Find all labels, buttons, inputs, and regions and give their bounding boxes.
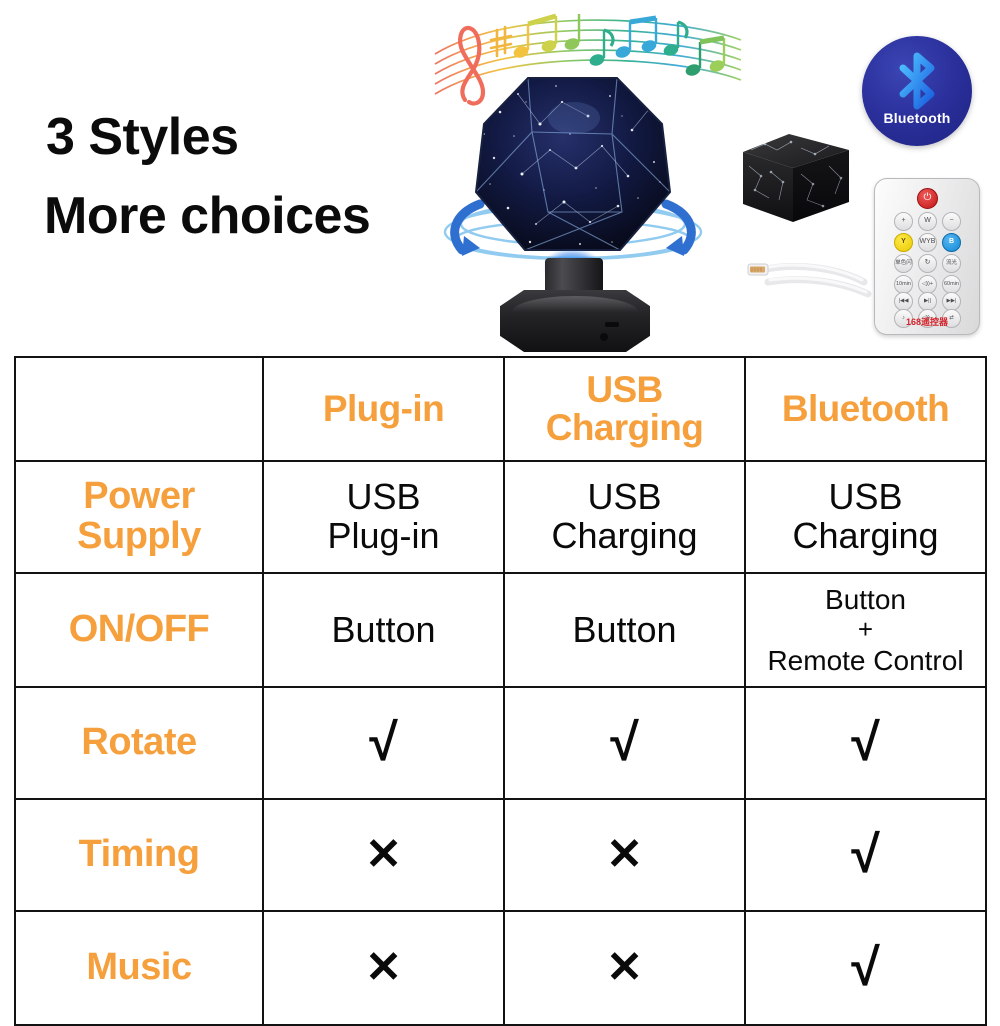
- feature-comparison-table: Plug-inUSBChargingBluetoothPowerSupplyUS…: [14, 356, 987, 1026]
- cell-usb-not-supported: ✕: [504, 911, 745, 1025]
- remote-w-button: W: [918, 212, 937, 231]
- cell-line: Plug-in: [268, 517, 499, 556]
- star-projector-lamp-image: [440, 72, 705, 360]
- table-corner-cell: [15, 357, 263, 461]
- cross-icon: ✕: [606, 946, 643, 990]
- remote-b-button: B: [942, 233, 961, 252]
- row-label-line: Music: [20, 948, 258, 988]
- cell-plugin-not-supported: ✕: [263, 911, 504, 1025]
- cell-bluetooth-supported: √: [745, 911, 986, 1025]
- header-line: USB: [509, 371, 740, 409]
- row-label-line: Timing: [20, 835, 258, 875]
- headline-line-1: 3 Styles: [46, 107, 239, 167]
- cell-line: +: [750, 615, 981, 644]
- table-row: ON/OFFButtonButtonButton+Remote Control: [15, 573, 986, 687]
- row-label-rotate: Rotate: [15, 687, 263, 799]
- check-icon: √: [851, 829, 880, 881]
- remote-wyb-button: WYB: [918, 233, 937, 252]
- remote-model-label: 168遥控器: [875, 315, 979, 328]
- check-icon: √: [369, 717, 398, 769]
- table-row: Rotate√√√: [15, 687, 986, 799]
- table-header-bluetooth: Bluetooth: [745, 357, 986, 461]
- remote-minus-button: −: [942, 212, 961, 231]
- cell-plugin-supported: √: [263, 687, 504, 799]
- cell-line: Charging: [509, 517, 740, 556]
- cell-line: Button: [750, 584, 981, 615]
- row-label-line: ON/OFF: [20, 610, 258, 650]
- remote-power-button: ⏻: [917, 188, 938, 209]
- cell-bluetooth-value: USBCharging: [745, 461, 986, 573]
- table-row: Music✕✕√: [15, 911, 986, 1025]
- bluetooth-badge: Bluetooth: [862, 36, 972, 146]
- header-line: Plug-in: [268, 390, 499, 428]
- cell-line: Button: [509, 611, 740, 650]
- remote-y-button: Y: [894, 233, 913, 252]
- cell-line: USB: [509, 478, 740, 517]
- cell-usb-value: Button: [504, 573, 745, 687]
- remote-mode-left-button: 单色闪: [894, 254, 913, 273]
- cell-line: USB: [750, 478, 981, 517]
- cell-plugin-value: Button: [263, 573, 504, 687]
- header-line: Charging: [509, 409, 740, 447]
- cell-line: Button: [268, 611, 499, 650]
- row-label-timing: Timing: [15, 799, 263, 911]
- cell-line: USB: [268, 478, 499, 517]
- remote-rotate-button: ↻: [918, 254, 937, 273]
- cross-icon: ✕: [606, 833, 643, 877]
- cross-icon: ✕: [365, 946, 402, 990]
- cell-plugin-value: USBPlug-in: [263, 461, 504, 573]
- table-header-usb: USBCharging: [504, 357, 745, 461]
- power-button: [600, 333, 608, 341]
- cell-usb-not-supported: ✕: [504, 799, 745, 911]
- remote-control-image: ⏻ + W − Y WYB B 单色闪 ↻ 流光 10min ◁))+ 60mi…: [874, 178, 980, 335]
- headline-line-2: More choices: [44, 186, 370, 246]
- cell-usb-supported: √: [504, 687, 745, 799]
- remote-plus-button: +: [894, 212, 913, 231]
- cell-bluetooth-supported: √: [745, 687, 986, 799]
- row-label-line: Supply: [20, 517, 258, 557]
- row-label-line: Rotate: [20, 723, 258, 763]
- cross-icon: ✕: [365, 833, 402, 877]
- header-line: Bluetooth: [750, 390, 981, 428]
- check-icon: √: [851, 717, 880, 769]
- usb-port: [605, 322, 619, 327]
- usb-cable-image: [742, 248, 878, 310]
- check-icon: √: [851, 942, 880, 994]
- cell-plugin-not-supported: ✕: [263, 799, 504, 911]
- table-header-plugin: Plug-in: [263, 357, 504, 461]
- cell-usb-value: USBCharging: [504, 461, 745, 573]
- bluetooth-badge-label: Bluetooth: [862, 110, 972, 126]
- cell-bluetooth-supported: √: [745, 799, 986, 911]
- row-label-line: Power: [20, 477, 258, 517]
- table-row: PowerSupplyUSBPlug-inUSBChargingUSBCharg…: [15, 461, 986, 573]
- lamp-globe: [470, 72, 675, 270]
- table-row: Timing✕✕√: [15, 799, 986, 911]
- product-package-box-image: [737, 122, 855, 230]
- hero-product-banner: 3 Styles More choices: [0, 0, 1000, 356]
- table-header-row: Plug-inUSBChargingBluetooth: [15, 357, 986, 461]
- cell-line: Remote Control: [750, 645, 981, 676]
- check-icon: √: [610, 717, 639, 769]
- remote-mode-right-button: 流光: [942, 254, 961, 273]
- row-label-on-off: ON/OFF: [15, 573, 263, 687]
- row-label-power-supply: PowerSupply: [15, 461, 263, 573]
- cell-bluetooth-value: Button+Remote Control: [745, 573, 986, 687]
- bluetooth-icon: [893, 50, 941, 112]
- row-label-music: Music: [15, 911, 263, 1025]
- cell-line: Charging: [750, 517, 981, 556]
